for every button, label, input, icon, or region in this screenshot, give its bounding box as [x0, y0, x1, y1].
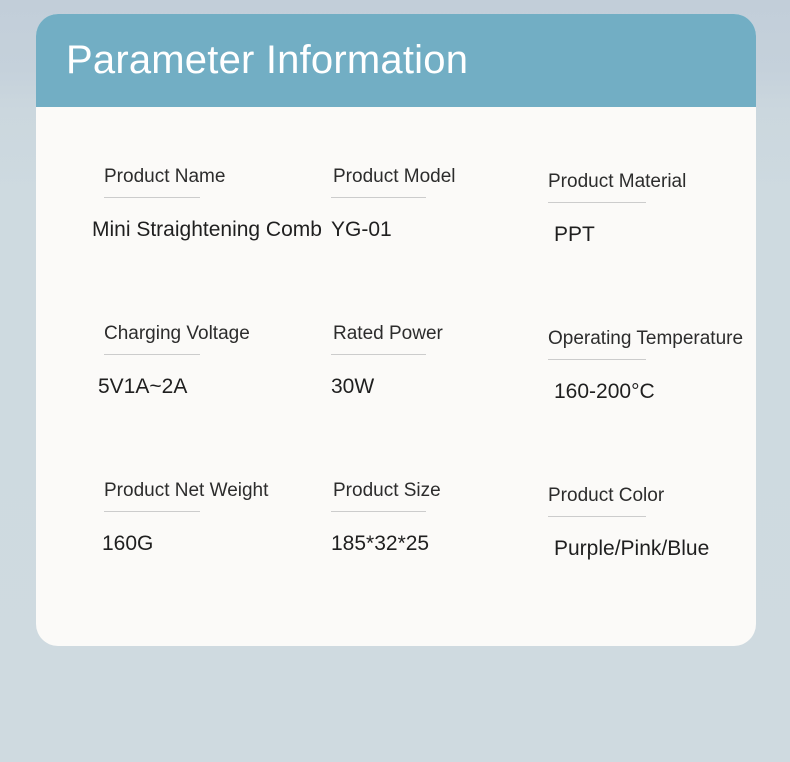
spec-row: Product Net Weight 160G Product Size 185…	[36, 479, 756, 629]
spec-item-product-model: Product Model YG-01	[331, 165, 546, 243]
spec-item-product-name: Product Name Mini Straightening Comb	[98, 165, 338, 243]
spec-value: 5V1A~2A	[98, 374, 338, 400]
label-underline	[548, 202, 646, 203]
spec-item-rated-power: Rated Power 30W	[331, 322, 546, 400]
page-root: Parameter Information Product Name Mini …	[0, 0, 790, 762]
spec-value: PPT	[554, 222, 756, 248]
spec-label: Product Name	[98, 165, 338, 189]
spec-label: Product Size	[331, 479, 546, 503]
spec-value: 185*32*25	[331, 531, 546, 557]
spec-label: Product Material	[546, 170, 756, 194]
spec-value: 160-200°C	[554, 379, 756, 405]
spec-item-product-net-weight: Product Net Weight 160G	[98, 479, 338, 557]
spec-row: Charging Voltage 5V1A~2A Rated Power 30W…	[36, 322, 756, 472]
label-underline	[104, 354, 200, 355]
spec-value: 160G	[102, 531, 338, 557]
label-underline	[331, 197, 426, 198]
label-underline	[104, 197, 200, 198]
label-underline	[104, 511, 200, 512]
spec-value: 30W	[331, 374, 546, 400]
spec-item-product-size: Product Size 185*32*25	[331, 479, 546, 557]
spec-item-product-color: Product Color Purple/Pink/Blue	[546, 484, 756, 562]
spec-label: Product Color	[546, 484, 756, 508]
parameter-information-card: Parameter Information Product Name Mini …	[36, 14, 756, 646]
spec-value: Mini Straightening Comb	[92, 217, 338, 243]
label-underline	[331, 511, 426, 512]
spec-value: Purple/Pink/Blue	[554, 536, 756, 562]
card-header-banner: Parameter Information	[36, 14, 756, 107]
label-underline	[548, 516, 646, 517]
spec-row: Product Name Mini Straightening Comb Pro…	[36, 165, 756, 315]
spec-item-product-material: Product Material PPT	[546, 170, 756, 248]
spec-label: Product Model	[331, 165, 546, 189]
spec-label: Charging Voltage	[98, 322, 338, 346]
spec-label: Product Net Weight	[98, 479, 338, 503]
spec-item-operating-temperature: Operating Temperature 160-200°C	[546, 327, 756, 405]
spec-item-charging-voltage: Charging Voltage 5V1A~2A	[98, 322, 338, 400]
label-underline	[548, 359, 646, 360]
label-underline	[331, 354, 426, 355]
spec-label: Operating Temperature	[546, 327, 756, 351]
spec-label: Rated Power	[331, 322, 546, 346]
spec-table: Product Name Mini Straightening Comb Pro…	[36, 107, 756, 646]
spec-value: YG-01	[331, 217, 546, 243]
page-title: Parameter Information	[66, 32, 468, 88]
